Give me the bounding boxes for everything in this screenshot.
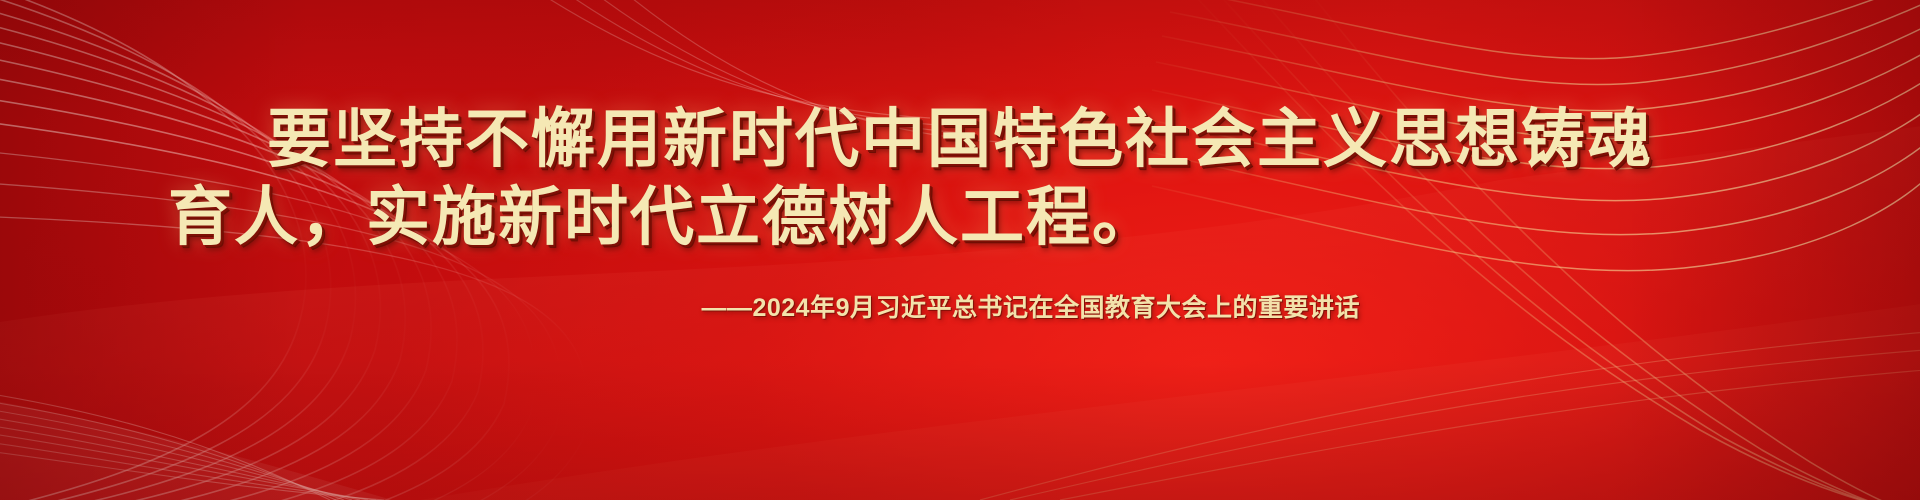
headline-line-1: 要坚持不懈用新时代中国特色社会主义思想铸魂: [0, 104, 1920, 176]
banner-text-content: 要坚持不懈用新时代中国特色社会主义思想铸魂 育人，实施新时代立德树人工程。 ——…: [0, 0, 1920, 500]
headline-line-2: 育人，实施新时代立德树人工程。: [0, 182, 1920, 254]
speech-attribution: ——2024年9月习近平总书记在全国教育大会上的重要讲话: [0, 288, 1920, 324]
propaganda-banner: 要坚持不懈用新时代中国特色社会主义思想铸魂 育人，实施新时代立德树人工程。 ——…: [0, 0, 1920, 500]
